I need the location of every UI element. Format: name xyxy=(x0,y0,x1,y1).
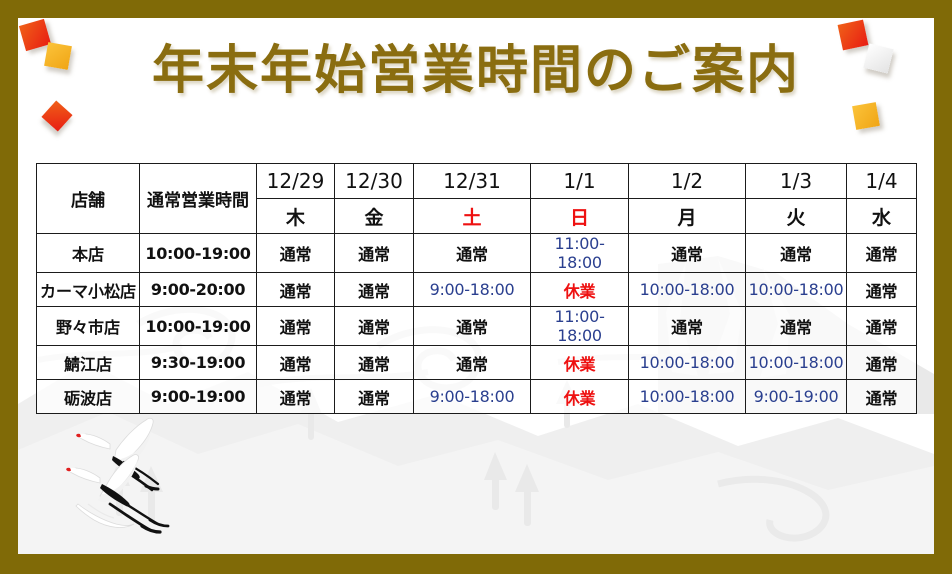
header-dow-4: 月 xyxy=(629,199,746,234)
store-name-3: 鯖江店 xyxy=(37,346,140,380)
cell-3-3: 休業 xyxy=(531,346,629,380)
frame-top-edge xyxy=(0,0,952,18)
cell-1-5: 10:00-18:00 xyxy=(746,273,847,307)
header-dow-5: 火 xyxy=(746,199,847,234)
page-title: 年末年始営業時間のご案内 xyxy=(18,44,934,99)
cell-3-5: 10:00-18:00 xyxy=(746,346,847,380)
header-date-0: 12/29 xyxy=(257,164,335,199)
header-date-2: 12/31 xyxy=(414,164,531,199)
cell-2-3: 11:00-18:00 xyxy=(531,307,629,346)
cell-1-0: 通常 xyxy=(257,273,335,307)
cell-2-2: 通常 xyxy=(414,307,531,346)
header-dow-2: 土 xyxy=(414,199,531,234)
cell-4-3: 休業 xyxy=(531,380,629,414)
normal-hours-4: 9:00-19:00 xyxy=(140,380,257,414)
header-date-1: 12/30 xyxy=(335,164,414,199)
cell-4-2: 9:00-18:00 xyxy=(414,380,531,414)
store-name-2: 野々市店 xyxy=(37,307,140,346)
header-dow-3: 日 xyxy=(531,199,629,234)
cell-3-2: 通常 xyxy=(414,346,531,380)
schedule-table-container: 店舗 通常営業時間 12/29 12/30 12/31 1/1 1/2 1/3 … xyxy=(36,163,916,414)
cell-0-4: 通常 xyxy=(629,234,746,273)
cell-3-1: 通常 xyxy=(335,346,414,380)
table-row: 砺波店 9:00-19:00 通常 通常 9:00-18:00 休業 10:00… xyxy=(37,380,917,414)
cell-3-0: 通常 xyxy=(257,346,335,380)
table-row: 野々市店 10:00-19:00 通常 通常 通常 11:00-18:00 通常… xyxy=(37,307,917,346)
cell-3-4: 10:00-18:00 xyxy=(629,346,746,380)
store-name-0: 本店 xyxy=(37,234,140,273)
crane-illustration xyxy=(58,408,188,553)
cell-1-6: 通常 xyxy=(847,273,917,307)
cell-0-2: 通常 xyxy=(414,234,531,273)
frame-right-edge xyxy=(934,0,952,574)
header-date-5: 1/3 xyxy=(746,164,847,199)
normal-hours-2: 10:00-19:00 xyxy=(140,307,257,346)
business-hours-table: 店舗 通常営業時間 12/29 12/30 12/31 1/1 1/2 1/3 … xyxy=(36,163,917,414)
header-dow-1: 金 xyxy=(335,199,414,234)
cell-4-4: 10:00-18:00 xyxy=(629,380,746,414)
cell-3-6: 通常 xyxy=(847,346,917,380)
frame-bottom-edge xyxy=(0,554,952,574)
cell-1-1: 通常 xyxy=(335,273,414,307)
cell-0-6: 通常 xyxy=(847,234,917,273)
cell-2-0: 通常 xyxy=(257,307,335,346)
cell-2-1: 通常 xyxy=(335,307,414,346)
cell-0-0: 通常 xyxy=(257,234,335,273)
cell-2-4: 通常 xyxy=(629,307,746,346)
cell-4-6: 通常 xyxy=(847,380,917,414)
cell-1-3: 休業 xyxy=(531,273,629,307)
cell-0-3: 11:00-18:00 xyxy=(531,234,629,273)
header-dow-6: 水 xyxy=(847,199,917,234)
cell-2-5: 通常 xyxy=(746,307,847,346)
cell-0-1: 通常 xyxy=(335,234,414,273)
table-row: 鯖江店 9:30-19:00 通常 通常 通常 休業 10:00-18:00 1… xyxy=(37,346,917,380)
header-normal-hours: 通常営業時間 xyxy=(140,164,257,234)
crane-upper xyxy=(76,418,158,490)
table-row: 本店 10:00-19:00 通常 通常 通常 11:00-18:00 通常 通… xyxy=(37,234,917,273)
cell-4-0: 通常 xyxy=(257,380,335,414)
store-name-4: 砺波店 xyxy=(37,380,140,414)
cell-4-1: 通常 xyxy=(335,380,414,414)
table-row: カーマ小松店 9:00-20:00 通常 通常 9:00-18:00 休業 10… xyxy=(37,273,917,307)
cell-4-5: 9:00-19:00 xyxy=(746,380,847,414)
poster-root: 年末年始営業時間のご案内 店舗 通常営業時間 12/29 12/30 12/31… xyxy=(0,0,952,574)
table-head: 店舗 通常営業時間 12/29 12/30 12/31 1/1 1/2 1/3 … xyxy=(37,164,917,234)
table-body: 本店 10:00-19:00 通常 通常 通常 11:00-18:00 通常 通… xyxy=(37,234,917,414)
header-row-dates: 店舗 通常営業時間 12/29 12/30 12/31 1/1 1/2 1/3 … xyxy=(37,164,917,199)
header-date-3: 1/1 xyxy=(531,164,629,199)
normal-hours-0: 10:00-19:00 xyxy=(140,234,257,273)
store-name-1: カーマ小松店 xyxy=(37,273,140,307)
cell-1-2: 9:00-18:00 xyxy=(414,273,531,307)
frame-left-edge xyxy=(0,0,18,574)
header-date-4: 1/2 xyxy=(629,164,746,199)
header-date-6: 1/4 xyxy=(847,164,917,199)
cell-1-4: 10:00-18:00 xyxy=(629,273,746,307)
header-dow-0: 木 xyxy=(257,199,335,234)
cell-2-6: 通常 xyxy=(847,307,917,346)
crane-lower xyxy=(66,455,168,532)
normal-hours-1: 9:00-20:00 xyxy=(140,273,257,307)
cell-0-5: 通常 xyxy=(746,234,847,273)
title-band: 年末年始営業時間のご案内 xyxy=(18,18,934,148)
normal-hours-3: 9:30-19:00 xyxy=(140,346,257,380)
header-store: 店舗 xyxy=(37,164,140,234)
